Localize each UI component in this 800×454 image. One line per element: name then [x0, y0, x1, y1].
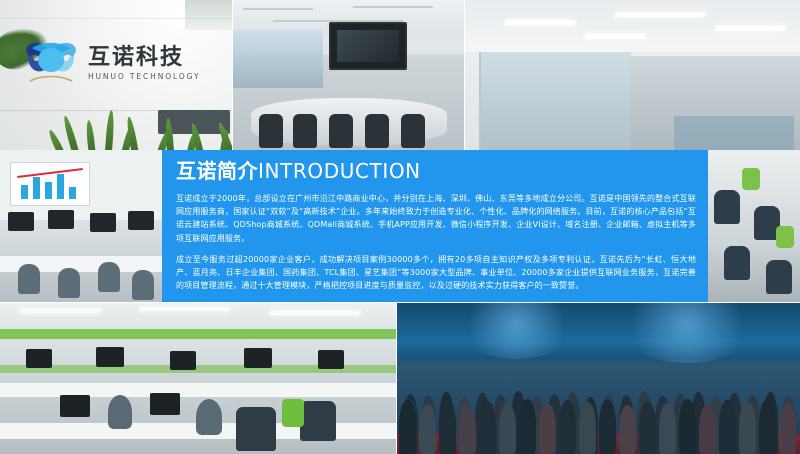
workspace-monitor [150, 393, 180, 415]
ceiling-light [140, 307, 231, 311]
workspace-monitor [170, 351, 196, 370]
workspace-monitor [96, 347, 124, 367]
lobby-plant [60, 106, 232, 150]
meeting-chair [293, 114, 317, 148]
training-monitor [8, 212, 34, 231]
workspace-monitor [244, 348, 272, 368]
photo-workspace [0, 303, 396, 454]
workspace-person [108, 395, 132, 429]
workspace-chair [300, 401, 336, 441]
introduction-panel: 互诺简介INTRODUCTION 互诺成立于2000年，总部设立在广州市沿江中路… [162, 150, 708, 302]
ceiling-light [584, 34, 646, 39]
meeting-chair [365, 114, 389, 148]
intro-title-cn: 互诺简介 [176, 159, 258, 183]
ceiling-light [714, 26, 786, 31]
workspace-plant [282, 399, 304, 427]
ceiling-light [269, 311, 361, 315]
logo-name-cn: 互诺科技 [88, 47, 200, 69]
intro-paragraph-1: 互诺成立于2000年，总部设立在广州市沿江中路商业中心，并分别在上海、深圳、佛山… [176, 192, 696, 245]
lobby-wall-seam-top [0, 18, 232, 19]
page-title: 互诺简介INTRODUCTION [176, 160, 696, 183]
meeting-chair [401, 114, 425, 148]
board-bar [45, 182, 52, 199]
workspace-chair [236, 407, 276, 451]
intro-paragraph-2: 成立至今服务过超20000家企业客户，成功解决项目案例30000多个，拥有20多… [176, 253, 696, 293]
office-glass-partition [479, 52, 631, 150]
lobby-ceiling [185, 0, 232, 30]
meeting-chair [329, 114, 353, 148]
logo-name-en: HUNUO TECHNOLOGY [88, 73, 200, 81]
office-chair [766, 260, 792, 294]
training-monitor [90, 213, 116, 232]
ceiling-light [614, 12, 706, 17]
training-monitor [48, 210, 74, 229]
workspace-monitor [26, 349, 52, 368]
training-person [58, 268, 80, 298]
workspace-green-band [0, 329, 396, 339]
office-chair [724, 246, 750, 280]
workspace-monitor [60, 395, 90, 417]
board-line [17, 168, 83, 178]
office-plant [776, 226, 794, 248]
training-person [132, 270, 154, 300]
intro-title-en: INTRODUCTION [258, 159, 421, 183]
workspace-monitor [318, 350, 344, 369]
office-chair [714, 190, 740, 224]
board-bar [57, 174, 64, 199]
photo-meeting-room [233, 0, 464, 150]
meeting-window [233, 30, 323, 88]
photo-group [397, 303, 800, 454]
meeting-chair [259, 114, 283, 148]
group-row-front [397, 385, 800, 454]
wall-logo: 互诺科技 HUNUO TECHNOLOGY [22, 36, 204, 92]
ceiling-light [504, 20, 576, 25]
office-desk [674, 116, 794, 150]
workspace-person [196, 399, 222, 435]
company-profile-collage: 互诺科技 HUNUO TECHNOLOGY [0, 0, 800, 454]
training-monitor [128, 211, 154, 230]
ceiling-light [19, 309, 100, 313]
photo-office-corridor: 2000 - 2018 th 互诺科技 [465, 0, 800, 150]
meeting-ceiling-light [353, 6, 433, 8]
training-person [98, 262, 120, 292]
photo-training-room [0, 150, 162, 302]
board-bar [21, 185, 28, 199]
training-person [18, 264, 40, 294]
meeting-ceiling-light [243, 8, 313, 10]
office-plant [742, 168, 760, 190]
photo-open-office [708, 150, 800, 302]
meeting-display-screen [329, 22, 407, 70]
board-bar [33, 177, 40, 199]
board-bar [69, 187, 76, 199]
wall-logo-text: 互诺科技 HUNUO TECHNOLOGY [88, 47, 200, 81]
photo-lobby: 互诺科技 HUNUO TECHNOLOGY [0, 0, 232, 150]
training-whiteboard [10, 162, 90, 206]
hunuo-logo-mark-icon [22, 39, 80, 89]
